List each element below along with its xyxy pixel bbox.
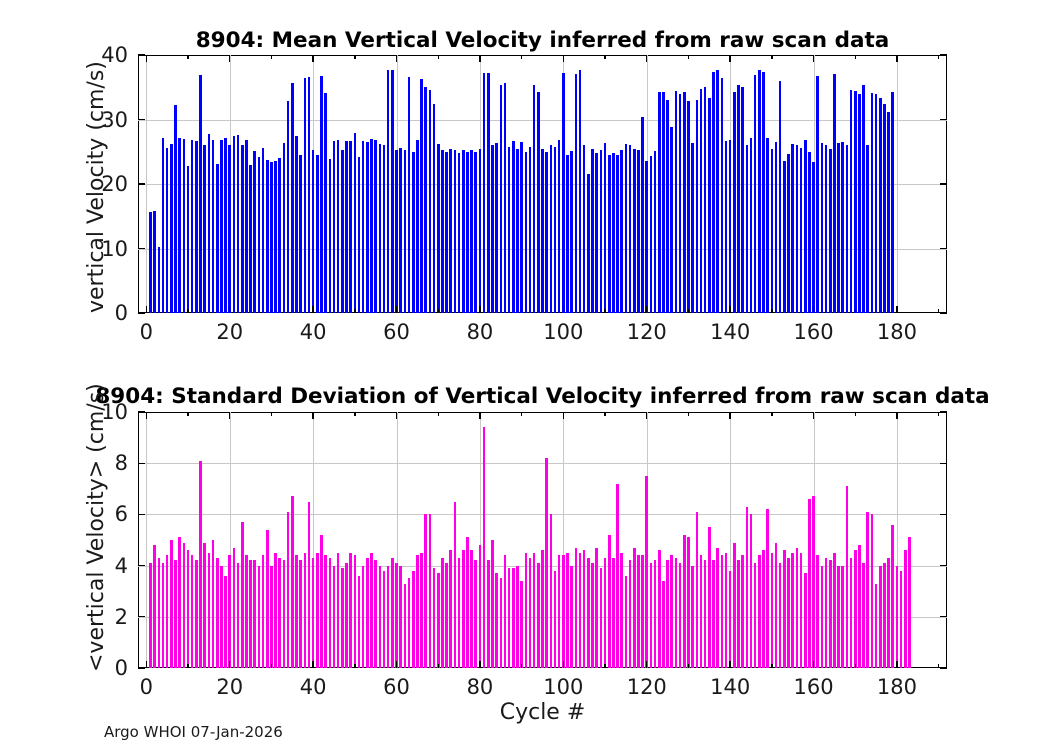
y-axis-tick	[138, 463, 145, 464]
x-axis-tick	[479, 306, 480, 313]
x-tick-label: 0	[140, 675, 153, 699]
y-axis-tick	[940, 312, 947, 313]
x-tick-label: 20	[216, 320, 243, 344]
x-axis-minor-tick	[771, 412, 772, 416]
x-axis-tick	[312, 55, 313, 62]
x-axis-minor-tick	[438, 664, 439, 668]
x-axis-minor-tick	[855, 664, 856, 668]
x-axis-minor-tick	[604, 412, 605, 416]
x-tick-label: 20	[216, 675, 243, 699]
x-axis-minor-tick	[521, 55, 522, 59]
y-axis-tick	[940, 183, 947, 184]
x-axis-minor-tick	[688, 309, 689, 313]
y-axis-tick	[940, 565, 947, 566]
y-axis-tick	[138, 565, 145, 566]
x-axis-minor-tick	[187, 55, 188, 59]
y-tick-label: 40	[80, 43, 128, 67]
x-axis-minor-tick	[771, 55, 772, 59]
x-tick-label: 180	[877, 320, 917, 344]
x-axis-tick	[729, 55, 730, 62]
x-axis-tick	[396, 306, 397, 313]
x-axis-tick	[896, 55, 897, 62]
chart-title-mean: 8904: Mean Vertical Velocity inferred fr…	[138, 28, 947, 53]
y-tick-label: 8	[80, 451, 128, 475]
x-axis-tick	[729, 661, 730, 668]
x-axis-tick	[146, 55, 147, 62]
x-axis-tick	[312, 306, 313, 313]
x-axis-tick	[813, 306, 814, 313]
x-axis-tick	[229, 412, 230, 419]
x-axis-minor-tick	[688, 664, 689, 668]
y-axis-tick	[138, 54, 145, 55]
x-tick-label: 100	[543, 320, 583, 344]
y-axis-tick	[138, 616, 145, 617]
x-axis-minor-tick	[438, 55, 439, 59]
y-tick-label: 2	[80, 605, 128, 629]
x-axis-minor-tick	[354, 55, 355, 59]
x-axis-minor-tick	[604, 309, 605, 313]
x-axis-tick	[813, 661, 814, 668]
x-axis-tick	[563, 661, 564, 668]
x-axis-tick	[646, 306, 647, 313]
x-tick-label: 60	[383, 675, 410, 699]
x-axis-tick	[563, 412, 564, 419]
axis-ticks-mean	[138, 55, 947, 313]
x-axis-minor-tick	[187, 309, 188, 313]
x-axis-minor-tick	[521, 309, 522, 313]
figure-footer-credit: Argo WHOI 07-Jan-2026	[104, 723, 283, 741]
x-axis-tick	[896, 412, 897, 419]
y-axis-tick	[138, 183, 145, 184]
std-velocity-plot-area	[138, 412, 947, 668]
x-tick-label: 180	[877, 675, 917, 699]
x-tick-label: 140	[710, 675, 750, 699]
chart-title-std: 8904: Standard Deviation of Vertical Vel…	[60, 384, 1025, 409]
x-axis-tick	[396, 412, 397, 419]
x-tick-label: 40	[300, 320, 327, 344]
y-axis-tick	[138, 411, 145, 412]
x-axis-tick	[729, 306, 730, 313]
y-tick-label: 30	[80, 108, 128, 132]
y-axis-tick	[940, 119, 947, 120]
x-axis-minor-tick	[271, 412, 272, 416]
x-axis-minor-tick	[688, 412, 689, 416]
x-axis-minor-tick	[604, 55, 605, 59]
y-axis-tick	[138, 312, 145, 313]
x-axis-minor-tick	[354, 664, 355, 668]
x-axis-minor-tick	[354, 412, 355, 416]
x-tick-label: 0	[140, 320, 153, 344]
argo-velocity-figure: 8904: Mean Vertical Velocity inferred fr…	[0, 0, 1050, 750]
x-axis-tick	[896, 306, 897, 313]
x-axis-tick	[229, 306, 230, 313]
y-tick-label: 0	[80, 656, 128, 680]
x-axis-tick	[479, 412, 480, 419]
x-axis-minor-tick	[271, 309, 272, 313]
x-axis-minor-tick	[855, 412, 856, 416]
x-axis-minor-tick	[187, 412, 188, 416]
x-tick-label: 120	[627, 320, 667, 344]
y-axis-tick	[940, 463, 947, 464]
x-tick-label: 140	[710, 320, 750, 344]
x-axis-tick	[563, 306, 564, 313]
x-axis-tick	[229, 55, 230, 62]
x-axis-tick	[813, 412, 814, 419]
x-axis-minor-tick	[771, 309, 772, 313]
x-axis-label: Cycle #	[138, 700, 947, 725]
y-axis-tick	[940, 54, 947, 55]
x-axis-tick	[146, 412, 147, 419]
y-axis-tick	[940, 667, 947, 668]
mean-velocity-plot-area	[138, 55, 947, 313]
x-axis-minor-tick	[271, 664, 272, 668]
x-tick-label: 160	[794, 320, 834, 344]
x-axis-tick	[312, 661, 313, 668]
y-axis-tick	[940, 616, 947, 617]
y-axis-tick	[138, 248, 145, 249]
x-axis-tick	[563, 55, 564, 62]
x-axis-tick	[729, 412, 730, 419]
x-axis-minor-tick	[604, 664, 605, 668]
x-axis-tick	[479, 55, 480, 62]
x-axis-minor-tick	[438, 412, 439, 416]
y-axis-tick	[940, 248, 947, 249]
x-axis-minor-tick	[688, 55, 689, 59]
y-tick-label: 20	[80, 172, 128, 196]
x-tick-label: 60	[383, 320, 410, 344]
y-axis-tick	[940, 411, 947, 412]
x-axis-tick	[479, 661, 480, 668]
x-tick-label: 80	[467, 675, 494, 699]
x-axis-tick	[646, 55, 647, 62]
x-axis-minor-tick	[187, 664, 188, 668]
y-tick-label: 6	[80, 502, 128, 526]
x-axis-tick	[146, 661, 147, 668]
x-axis-tick	[813, 55, 814, 62]
x-axis-tick	[646, 412, 647, 419]
x-axis-tick	[896, 661, 897, 668]
x-axis-minor-tick	[354, 309, 355, 313]
y-tick-label: 10	[80, 237, 128, 261]
x-axis-minor-tick	[438, 309, 439, 313]
x-axis-minor-tick	[771, 664, 772, 668]
x-axis-tick	[146, 306, 147, 313]
x-axis-tick	[229, 661, 230, 668]
axis-ticks-std	[138, 412, 947, 668]
x-tick-label: 100	[543, 675, 583, 699]
y-axis-tick	[940, 514, 947, 515]
y-tick-label: 10	[80, 400, 128, 424]
x-axis-tick	[312, 412, 313, 419]
y-tick-label: 4	[80, 554, 128, 578]
x-axis-tick	[646, 661, 647, 668]
x-axis-minor-tick	[855, 55, 856, 59]
x-tick-label: 120	[627, 675, 667, 699]
x-axis-minor-tick	[521, 664, 522, 668]
x-tick-label: 40	[300, 675, 327, 699]
x-tick-label: 80	[467, 320, 494, 344]
x-axis-minor-tick	[521, 412, 522, 416]
x-tick-label: 160	[794, 675, 834, 699]
x-axis-tick	[396, 55, 397, 62]
x-axis-minor-tick	[855, 309, 856, 313]
y-axis-tick	[138, 119, 145, 120]
y-tick-label: 0	[80, 301, 128, 325]
x-axis-tick	[396, 661, 397, 668]
y-axis-tick	[138, 667, 145, 668]
x-axis-minor-tick	[271, 55, 272, 59]
y-axis-tick	[138, 514, 145, 515]
